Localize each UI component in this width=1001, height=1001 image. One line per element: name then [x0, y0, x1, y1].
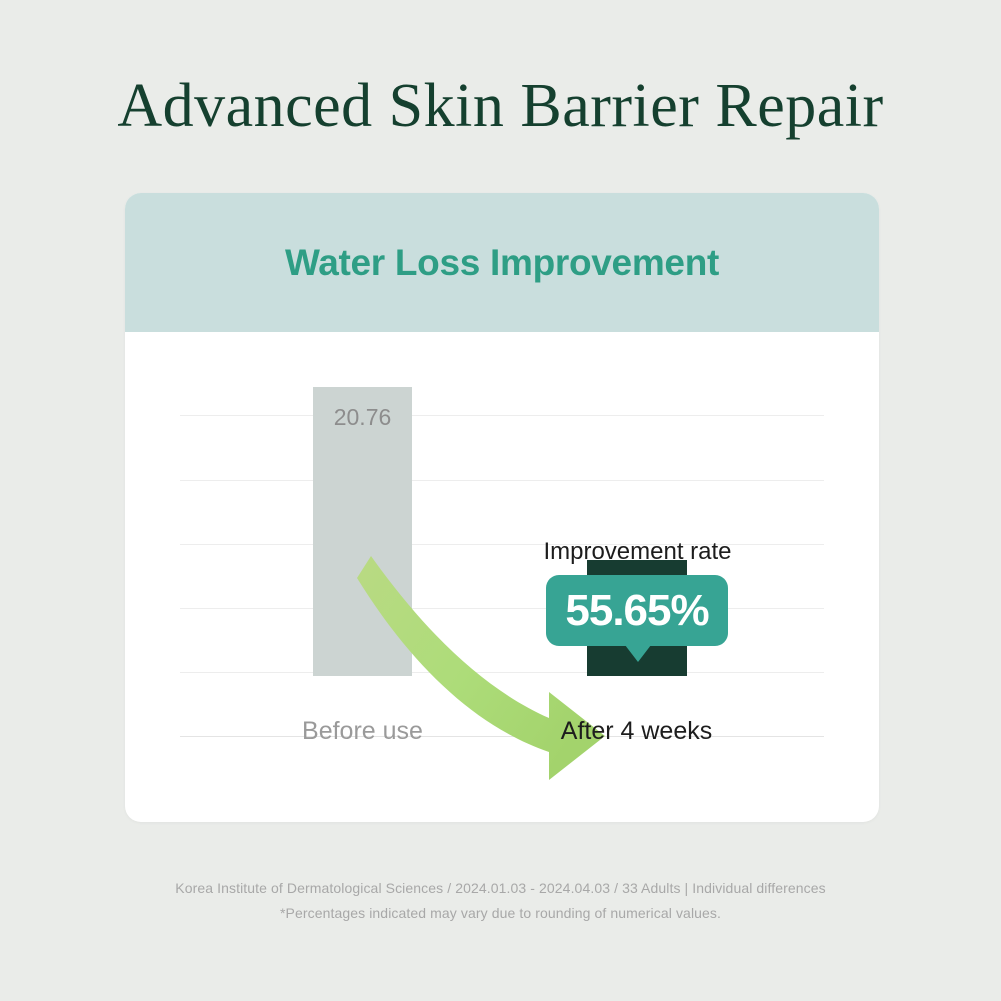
chart-card: Water Loss Improvement 20.76 9.21 [125, 193, 879, 822]
category-label-after-4-weeks: After 4 weeks [539, 717, 734, 746]
decline-arrow-icon [125, 332, 879, 822]
footnote-rounding-disclaimer: *Percentages indicated may vary due to r… [0, 901, 1001, 926]
gridline [180, 415, 824, 416]
bar-value-before-use: 20.76 [313, 404, 412, 431]
page-title: Advanced Skin Barrier Repair [0, 74, 1001, 139]
footnote-study-source: Korea Institute of Dermatological Scienc… [0, 876, 1001, 901]
plot-area: 20.76 9.21 Improvement rate 55.65% Befor… [125, 332, 879, 822]
improvement-rate-label: Improvement rate [515, 538, 760, 566]
improvement-rate-value: 55.65% [565, 586, 708, 636]
gridline [180, 480, 824, 481]
card-header: Water Loss Improvement [125, 193, 879, 332]
improvement-rate-badge: 55.65% [546, 575, 728, 646]
bar-before-use: 20.76 [313, 387, 412, 676]
footnotes: Korea Institute of Dermatological Scienc… [0, 876, 1001, 925]
gridline [180, 672, 824, 673]
badge-tail-icon [625, 645, 651, 662]
card-header-title: Water Loss Improvement [285, 242, 719, 284]
category-label-before-use: Before use [275, 717, 450, 746]
